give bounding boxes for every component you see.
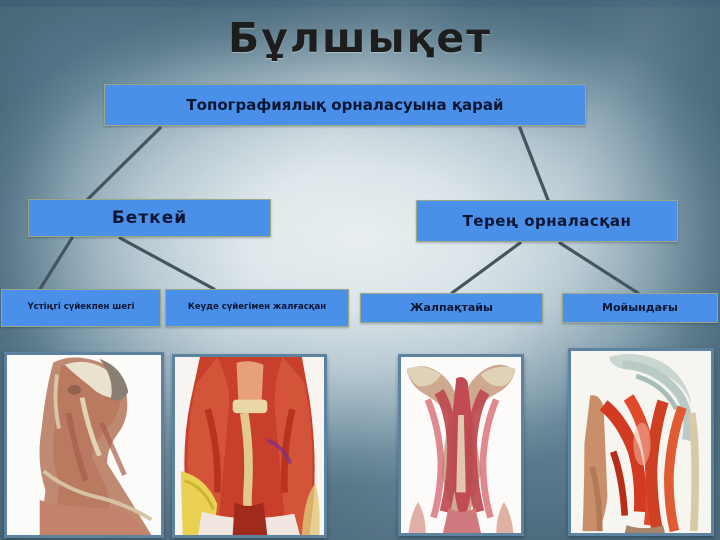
node-deep[interactable]: Терең орналасқан — [416, 200, 678, 242]
anatomy-image-2 — [172, 354, 327, 538]
node-root[interactable]: Топографиялық орналасуына қарай — [104, 84, 586, 126]
node-leaf-2[interactable]: Кеуде сүйегімен жалғасқан — [165, 289, 349, 327]
node-leaf-1[interactable]: Үстіңгі сүйекпен шегі — [1, 289, 161, 327]
anatomy-image-1 — [4, 352, 164, 538]
slide-canvas: Бұлшықет Топографиялық орналасуына қарай… — [0, 0, 720, 540]
anatomy-image-3 — [398, 354, 524, 536]
node-leaf-3[interactable]: Жалпақтайы — [360, 293, 543, 323]
anatomy-image-4 — [568, 348, 714, 536]
node-leaf-4[interactable]: Мойындағы — [562, 293, 718, 323]
node-superficial[interactable]: Беткей — [28, 199, 271, 237]
